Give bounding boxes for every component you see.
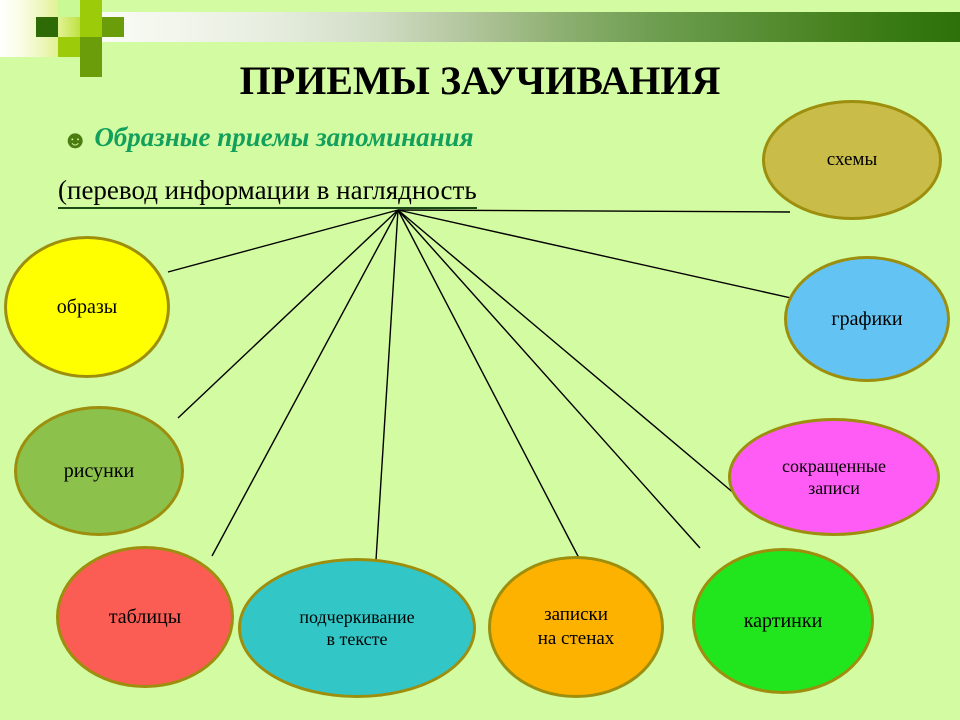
header-square-4 xyxy=(80,17,102,37)
node-wall-notes-line2: на стенах xyxy=(538,628,615,649)
node-tables-label: таблицы xyxy=(109,605,181,630)
node-drawings-label: рисунки xyxy=(64,459,134,484)
node-schemes[interactable]: схемы xyxy=(762,100,942,220)
header-square-0 xyxy=(36,17,58,37)
node-wall-notes-line1: записки xyxy=(544,604,608,625)
smiley-icon: ☻ xyxy=(62,127,88,155)
header-square-2 xyxy=(58,37,80,57)
connector-line-images xyxy=(168,210,398,272)
node-drawings[interactable]: рисунки xyxy=(14,406,184,536)
node-wall-notes-label: записки на стенах xyxy=(538,603,615,651)
node-underline-in-text[interactable]: подчеркивание в тексте xyxy=(238,558,476,698)
connector-line-schemes xyxy=(398,210,790,212)
node-pictures-label: картинки xyxy=(744,609,823,634)
header-square-5 xyxy=(80,37,102,57)
node-images-label: образы xyxy=(57,295,117,320)
node-schemes-label: схемы xyxy=(827,148,877,172)
node-short-notes-label: сокращенные записи xyxy=(782,455,886,500)
header-square-1 xyxy=(58,0,80,17)
slide-canvas: ПРИЕМЫ ЗАУЧИВАНИЯ ☻Образные приемы запом… xyxy=(0,0,960,720)
node-underline-label: подчеркивание в тексте xyxy=(299,606,414,651)
caption-text: (перевод информации в наглядность xyxy=(58,175,477,209)
node-graphs[interactable]: графики xyxy=(784,256,950,382)
node-pictures[interactable]: картинки xyxy=(692,548,874,694)
connector-line-underline xyxy=(376,210,398,560)
node-short-notes-line2: записи xyxy=(808,478,860,498)
connector-line-tables xyxy=(212,210,398,556)
node-images[interactable]: образы xyxy=(4,236,170,378)
subtitle-text: Образные приемы запоминания xyxy=(94,122,473,152)
header-square-6 xyxy=(102,17,124,37)
connector-line-short xyxy=(398,210,742,500)
connector-line-notes xyxy=(398,210,580,560)
connector-line-drawings xyxy=(178,210,398,418)
node-tables[interactable]: таблицы xyxy=(56,546,234,688)
node-short-notes-line1: сокращенные xyxy=(782,456,886,476)
header-gradient-band xyxy=(70,12,960,42)
page-title: ПРИЕМЫ ЗАУЧИВАНИЯ xyxy=(0,57,960,104)
header-square-3 xyxy=(80,0,102,17)
connector-line-graphs xyxy=(398,210,800,300)
connector-line-pictures xyxy=(398,210,700,548)
node-underline-line1: подчеркивание xyxy=(299,607,414,627)
node-wall-notes[interactable]: записки на стенах xyxy=(488,556,664,698)
node-underline-line2: в тексте xyxy=(326,629,387,649)
node-short-notes[interactable]: сокращенные записи xyxy=(728,418,940,536)
node-graphs-label: графики xyxy=(831,307,902,332)
subtitle-line: ☻Образные приемы запоминания xyxy=(62,122,474,155)
